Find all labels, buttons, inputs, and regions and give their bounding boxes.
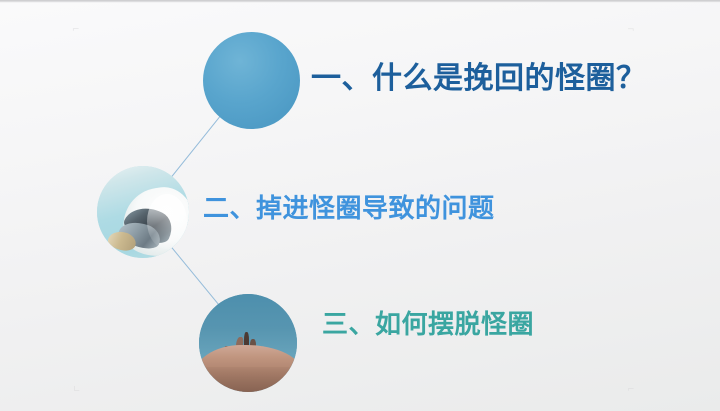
guide-mark-bottom-right: ⌐ (627, 386, 635, 395)
agenda-heading-2[interactable]: 二、掉进怪圈导致的问题 (203, 188, 495, 225)
mountain-rubble-layer (199, 367, 297, 392)
window-top-rule (0, 0, 720, 3)
presentation-slide: ⌐ ¬ ∟ ⌐ 一、什么是挽回的怪圈？ 二、掉进怪圈导致的问题 三、如何摆脱怪圈 (0, 0, 720, 411)
agenda-circle-mountain[interactable] (199, 294, 297, 392)
agenda-heading-3[interactable]: 三、如何摆脱怪圈 (322, 304, 534, 341)
seagull-highlight-layer (147, 194, 187, 249)
agenda-heading-1[interactable]: 一、什么是挽回的怪圈？ (311, 53, 647, 97)
guide-mark-top-right: ¬ (627, 26, 635, 35)
agenda-circle-sky[interactable] (203, 32, 300, 129)
guide-mark-top-left: ⌐ (72, 26, 80, 35)
guide-mark-bottom-left: ∟ (73, 386, 81, 395)
agenda-circle-seagull[interactable] (97, 166, 189, 258)
